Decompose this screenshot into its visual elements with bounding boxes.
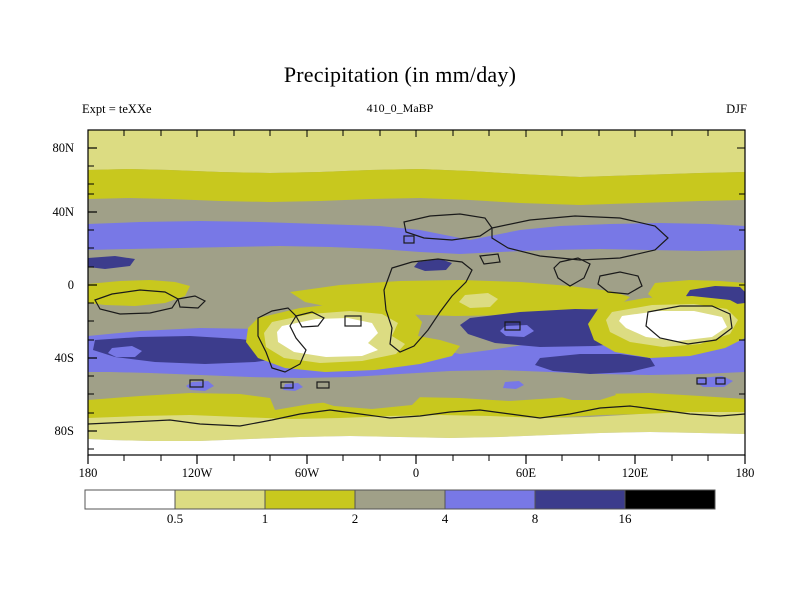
precipitation-contour-figure: Precipitation (in mm/day) Expt = teXXe 4… [0,0,800,600]
colorbar-band-0 [85,490,175,509]
y-tick-label-40n: 40N [28,205,74,220]
contour-field [88,130,745,455]
colorbar [85,490,715,509]
y-tick-label-0: 0 [28,278,74,293]
colorbar-band-2 [265,490,355,509]
y-tick-label-80n: 80N [28,141,74,156]
x-tick-label-60w: 60W [277,466,337,481]
x-tick-label-120e: 120E [605,466,665,481]
colorbar-tick-2: 2 [335,511,375,527]
x-tick-label-0: 0 [386,466,446,481]
colorbar-band-5 [535,490,625,509]
y-tick-label-40s: 40S [28,351,74,366]
colorbar-band-4 [445,490,535,509]
map-svg [0,0,800,600]
x-tick-label-180e: 180 [715,466,775,481]
y-tick-label-80s: 80S [28,424,74,439]
colorbar-tick-1: 1 [245,511,285,527]
colorbar-tick-8: 8 [515,511,555,527]
colorbar-band-1 [175,490,265,509]
colorbar-band-3 [355,490,445,509]
x-tick-label-180w: 180 [58,466,118,481]
colorbar-band-6 [625,490,715,509]
colorbar-tick-0_5: 0.5 [155,511,195,527]
x-tick-label-120w: 120W [167,466,227,481]
x-major-ticks [88,455,745,464]
colorbar-tick-4: 4 [425,511,465,527]
x-tick-label-60e: 60E [496,466,556,481]
colorbar-tick-16: 16 [605,511,645,527]
